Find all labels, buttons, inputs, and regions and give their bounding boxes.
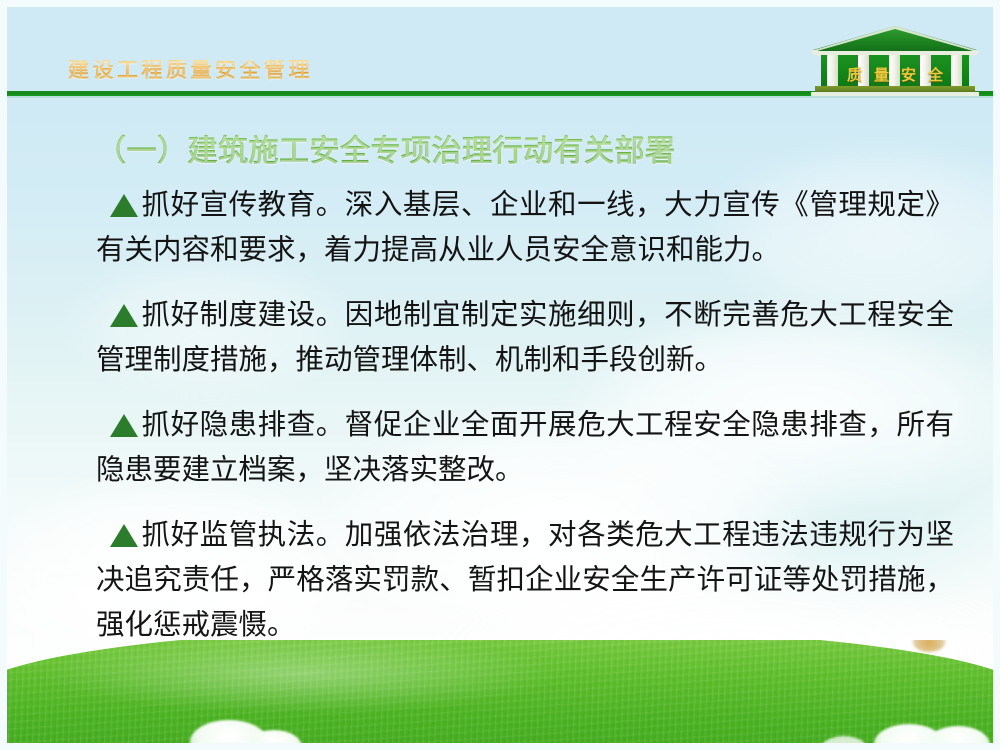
temple-icon (805, 24, 985, 96)
header-divider-shadow (0, 96, 1000, 98)
slide-content: （一）建筑施工安全专项治理行动有关部署 抓好宣传教育。深入基层、企业和一线，大力… (0, 100, 1000, 690)
bullet-item: 抓好监管执法。加强依法治理，对各类危大工程违法违规行为坚决追究责任，严格落实罚款… (96, 512, 954, 647)
slide-heading: （一）建筑施工安全专项治理行动有关部署 (96, 126, 676, 170)
header-title: 建设工程质量安全管理 (68, 60, 313, 81)
bullet-list: 抓好宣传教育。深入基层、企业和一线，大力宣传《管理规定》有关内容和要求，着力提高… (96, 182, 954, 647)
triangle-bullet-icon (110, 304, 138, 327)
bullet-text: 抓好宣传教育。深入基层、企业和一线，大力宣传《管理规定》有关内容和要求，着力提高… (96, 188, 954, 266)
triangle-bullet-icon (110, 524, 138, 547)
bullet-text: 抓好制度建设。因地制宜制定实施细则，不断完善危大工程安全管理制度措施，推动管理体… (96, 298, 954, 376)
bullet-item: 抓好宣传教育。深入基层、企业和一线，大力宣传《管理规定》有关内容和要求，着力提高… (96, 182, 954, 272)
bullet-item: 抓好隐患排查。督促企业全面开展危大工程安全隐患排查，所有隐患要建立档案，坚决落实… (96, 402, 954, 492)
bullet-text: 抓好监管执法。加强依法治理，对各类危大工程违法违规行为坚决追究责任，严格落实罚款… (96, 518, 954, 641)
triangle-bullet-icon (110, 414, 138, 437)
bullet-item: 抓好制度建设。因地制宜制定实施细则，不断完善危大工程安全管理制度措施，推动管理体… (96, 292, 954, 382)
presentation-slide: 建设工程质量安全管理 (0, 0, 1000, 750)
quality-safety-temple-logo: 质量安全 (805, 24, 985, 96)
bullet-text: 抓好隐患排查。督促企业全面开展危大工程安全隐患排查，所有隐患要建立档案，坚决落实… (96, 408, 954, 486)
triangle-bullet-icon (110, 194, 138, 217)
